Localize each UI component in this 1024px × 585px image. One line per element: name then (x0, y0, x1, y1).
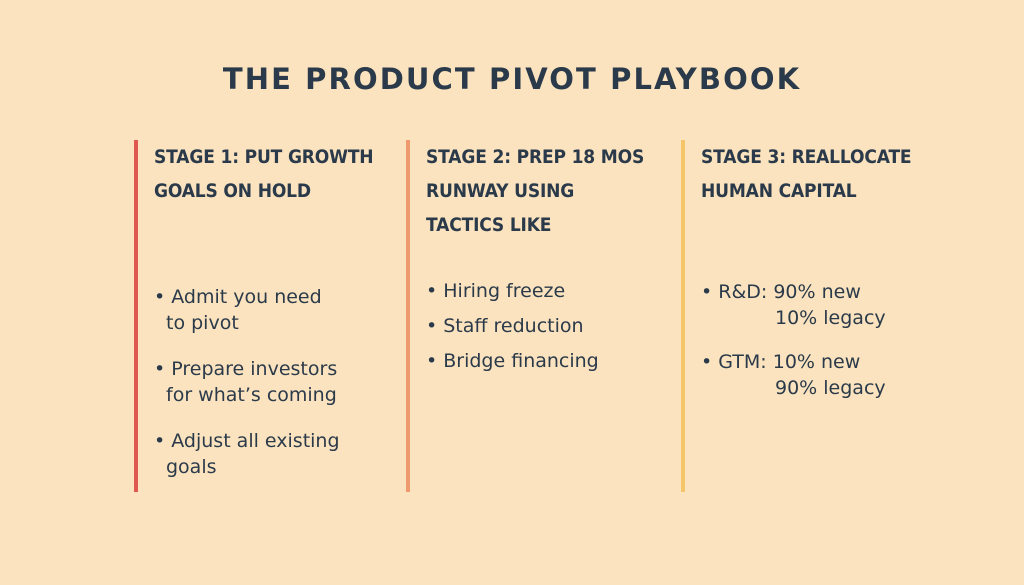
bullet-lead: • Staff reduction (426, 315, 584, 337)
list-item: • Staff reduction (426, 313, 681, 339)
stage-column-3: STAGE 3: REALLOCATE HUMAN CAPITAL • R&D:… (681, 140, 944, 492)
bullet-lead: • Admit you need (154, 286, 322, 308)
list-item: • Bridge financing (426, 348, 681, 374)
bullet-continuation: for what’s coming (166, 382, 406, 408)
bullet-continuation: to pivot (166, 310, 406, 336)
list-item: • Adjust all existinggoals (154, 428, 406, 480)
bullet-lead: • Adjust all existing (154, 430, 340, 452)
bullet-lead: • R&D: 90% new (701, 281, 861, 303)
list-item: • Prepare investorsfor what’s coming (154, 356, 406, 408)
list-item: • R&D: 90% new10% legacy (701, 279, 944, 331)
bullet-lead: • Prepare investors (154, 358, 337, 380)
list-item: • Admit you needto pivot (154, 284, 406, 336)
bullet-lead: • GTM: 10% new (701, 351, 860, 373)
stage-bullet-list-1: • Admit you needto pivot • Prepare inves… (154, 284, 406, 500)
stage-heading-3: STAGE 3: REALLOCATE HUMAN CAPITAL (701, 140, 920, 208)
bullet-lead: • Hiring freeze (426, 280, 565, 302)
bullet-continuation: 10% legacy (713, 305, 944, 331)
column-divider-2 (406, 140, 410, 492)
stage-heading-1: STAGE 1: PUT GROWTH GOALS ON HOLD (154, 140, 381, 208)
stage-heading-2: STAGE 2: PREP 18 MOS RUNWAY USING TACTIC… (426, 140, 656, 242)
list-item: • GTM: 10% new90% legacy (701, 349, 944, 401)
list-item: • Hiring freeze (426, 278, 681, 304)
stage-column-2: STAGE 2: PREP 18 MOS RUNWAY USING TACTIC… (406, 140, 681, 492)
bullet-continuation: goals (166, 454, 406, 480)
stage-columns: STAGE 1: PUT GROWTH GOALS ON HOLD • Admi… (134, 140, 944, 492)
page-title: THE PRODUCT PIVOT PLAYBOOK (0, 62, 1024, 96)
bullet-continuation: 90% legacy (713, 375, 944, 401)
bullet-lead: • Bridge financing (426, 350, 599, 372)
stage-bullet-list-2: • Hiring freeze • Staff reduction • Brid… (426, 278, 681, 383)
infographic-poster: THE PRODUCT PIVOT PLAYBOOK STAGE 1: PUT … (0, 0, 1024, 585)
stage-column-1: STAGE 1: PUT GROWTH GOALS ON HOLD • Admi… (134, 140, 406, 492)
stage-bullet-list-3: • R&D: 90% new10% legacy • GTM: 10% new9… (701, 279, 944, 419)
column-divider-1 (134, 140, 138, 492)
column-divider-3 (681, 140, 685, 492)
